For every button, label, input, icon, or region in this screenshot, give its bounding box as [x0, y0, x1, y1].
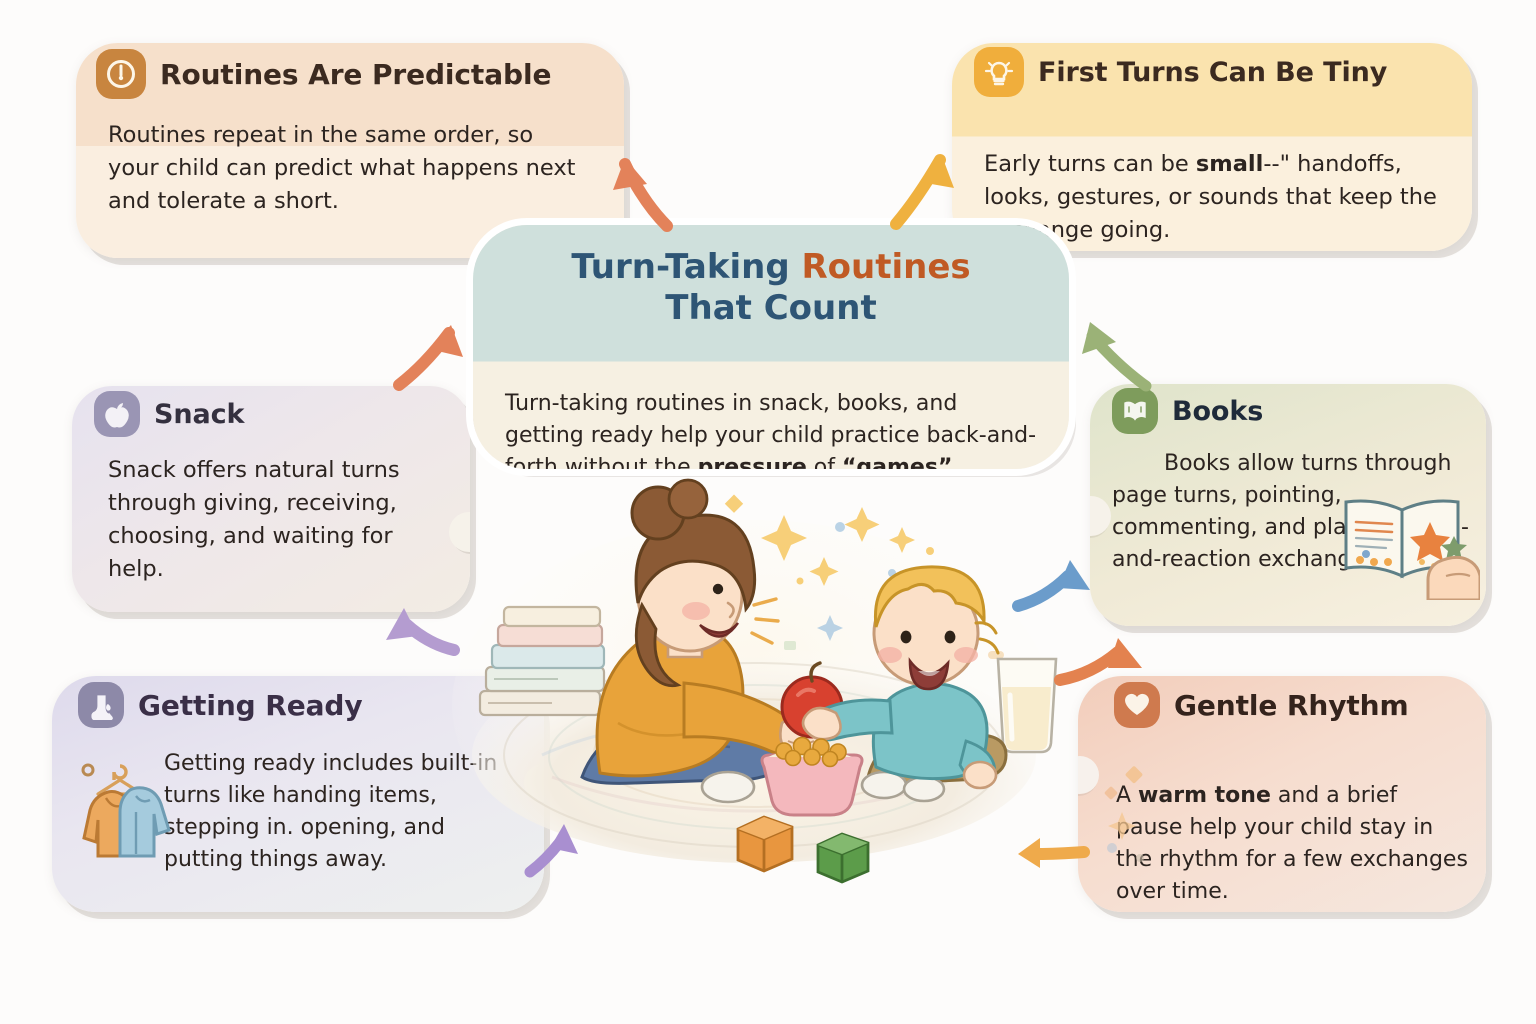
- arrow-to-rhythm: [1050, 632, 1146, 692]
- card-header-tiny: First Turns Can Be Tiny: [952, 43, 1472, 101]
- card-header-routines: Routines Are Predictable: [76, 43, 624, 105]
- arrow-to-snack: [385, 305, 477, 395]
- center-body-bold-pressure: pressure: [698, 455, 807, 469]
- arrow-to-tiny: [880, 128, 970, 233]
- card-title-gentle-rhythm: Gentle Rhythm: [1174, 689, 1409, 722]
- open-book-illustration: [1330, 484, 1480, 600]
- tiny-body-a: Early turns can be: [984, 151, 1196, 177]
- apple-icon: [94, 391, 140, 437]
- title-part-one: Turn-Taking: [571, 247, 801, 287]
- arrow-from-rhythm: [1012, 822, 1092, 866]
- center-body-bold-games: “games”: [842, 455, 952, 469]
- title-part-two: That Count: [665, 288, 876, 328]
- infographic-canvas: Routines Are Predictable Routines repeat…: [0, 0, 1536, 1024]
- confetti-decoration: [1100, 762, 1190, 872]
- card-title-books: Books: [1172, 396, 1263, 427]
- lightbulb-icon: [974, 47, 1024, 97]
- page-title: Turn-Taking Routines That Count: [473, 247, 1069, 330]
- card-books[interactable]: Books Books allow turns through page tur…: [1090, 384, 1486, 626]
- card-body-snack: Snack offers natural turns through givin…: [72, 454, 470, 585]
- card-center-hero[interactable]: Turn-Taking Routines That Count Turn-tak…: [473, 225, 1069, 469]
- clock-icon: [96, 49, 146, 99]
- title-accent: Routines: [802, 247, 971, 287]
- clothes-on-hanger-illustration: [76, 758, 182, 878]
- card-body-routines: Routines repeat in the same order, so yo…: [76, 119, 624, 218]
- arrow-to-books-lower: [1008, 548, 1098, 618]
- tiny-body-bold: small: [1196, 151, 1263, 177]
- card-gentle-rhythm[interactable]: Gentle Rhythm A warm tone and a brief pa…: [1078, 676, 1486, 912]
- arrow-to-getting-ready: [378, 598, 468, 668]
- card-first-turns-can-be-tiny[interactable]: First Turns Can Be Tiny Early turns can …: [952, 43, 1472, 251]
- card-body-center: Turn-taking routines in snack, books, an…: [473, 356, 1069, 469]
- arrow-to-routines: [595, 130, 685, 235]
- center-body-c: .: [952, 455, 959, 469]
- card-title-tiny: First Turns Can Be Tiny: [1038, 57, 1387, 88]
- center-body-b: of: [807, 455, 842, 469]
- card-snack[interactable]: Snack Snack offers natural turns through…: [72, 386, 470, 612]
- card-title-routines: Routines Are Predictable: [160, 58, 551, 91]
- arrow-from-getting-ready: [518, 810, 588, 882]
- card-title-getting-ready: Getting Ready: [138, 689, 363, 722]
- arrow-to-books-upper: [1060, 300, 1160, 400]
- sock-icon: [78, 682, 124, 728]
- card-title-snack: Snack: [154, 399, 244, 430]
